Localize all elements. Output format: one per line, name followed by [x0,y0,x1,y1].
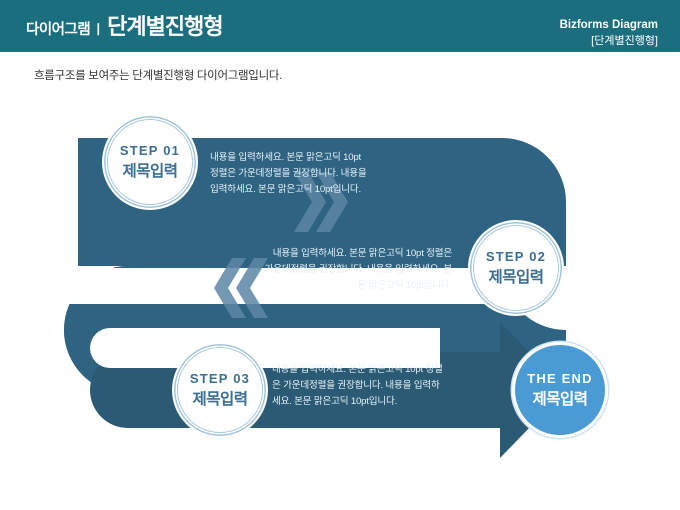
page-title: 다이어그램ㅣ단계별진행형 [26,16,223,38]
step-01-body: 내용을 입력하세요. 본문 맑은고딕 10pt 정렬은 가운데정렬을 권장합니다… [210,150,370,197]
page-title-separator: ㅣ [92,22,104,37]
step-01-label-ko: 제목입력 [122,162,177,181]
step-02-label-ko: 제목입력 [488,268,543,287]
brand-block: Bizforms Diagram [단계별진행형] [560,18,658,48]
page-title-prefix: 다이어그램 [26,22,90,38]
the-end-node[interactable]: THE END 제목입력 [512,342,608,438]
step-02-label-en: STEP 02 [486,249,546,265]
step-02-body: 내용을 입력하세요. 본문 맑은고딕 10pt 정렬은 가운데정렬을 권장합니다… [262,246,452,293]
description-text: 흐름구조를 보여주는 단계별진행형 다이어그램입니다. [34,67,282,83]
step-03-body: 내용을 입력하세요. 본문 맑은고딕 10pt 정렬은 가운데정렬을 권장합니다… [272,362,444,409]
step-03-node[interactable]: STEP 03 제목입력 [172,342,268,438]
page-title-main: 단계별진행형 [107,14,222,39]
header-divider [0,52,680,55]
brand-subtitle: [단계별진행형] [560,34,658,49]
step-02-node[interactable]: STEP 02 제목입력 [468,220,564,316]
the-end-label-en: THE END [527,371,592,387]
diagram-stage: 내용을 입력하세요. 본문 맑은고딕 10pt 정렬은 가운데정렬을 권장합니다… [0,100,680,480]
the-end-label-ko: 제목입력 [532,390,587,409]
brand-name: Bizforms Diagram [560,18,658,34]
step-03-label-en: STEP 03 [190,371,250,387]
step-01-node[interactable]: STEP 01 제목입력 [102,114,198,210]
step-03-label-ko: 제목입력 [192,390,247,409]
step-01-label-en: STEP 01 [120,143,180,159]
